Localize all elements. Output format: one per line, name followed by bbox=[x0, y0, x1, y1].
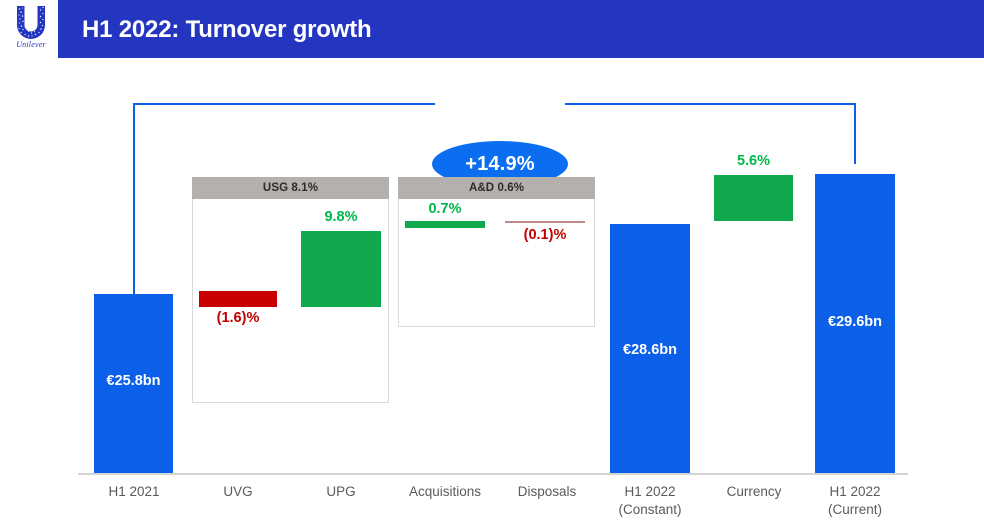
slide-canvas: Unilever H1 2022: Turnover growth +14.9%… bbox=[0, 0, 984, 529]
axis-label-disposals: Disposals bbox=[497, 483, 597, 501]
chart-axis-line bbox=[78, 473, 908, 475]
bar-value-disposals: (0.1)% bbox=[502, 227, 588, 243]
axis-label-h1-2021: H1 2021 bbox=[84, 483, 184, 501]
usg-group-header: USG 8.1% bbox=[192, 177, 389, 199]
page-title: H1 2022: Turnover growth bbox=[82, 14, 782, 46]
bar-acquisitions bbox=[405, 221, 485, 228]
usg-group-label: USG 8.1% bbox=[263, 182, 318, 194]
waterfall-chart: +14.9% USG 8.1% A&D 0.6% €25.8bn (1.6)% … bbox=[0, 58, 984, 529]
bar-value-h1-2022-constant: €28.6bn bbox=[610, 342, 690, 358]
connector-right-horizontal bbox=[565, 103, 856, 105]
connector-left-vertical bbox=[133, 103, 135, 295]
connector-left-horizontal bbox=[133, 103, 435, 105]
bar-value-acquisitions: 0.7% bbox=[405, 201, 485, 217]
connector-right-vertical bbox=[854, 103, 856, 164]
bar-value-h1-2022-current: €29.6bn bbox=[815, 314, 895, 330]
unilever-logo: Unilever bbox=[8, 5, 54, 57]
bar-value-currency: 5.6% bbox=[714, 153, 793, 169]
bar-upg bbox=[301, 231, 381, 307]
bar-currency bbox=[714, 175, 793, 221]
axis-label-h1-2022-constant: H1 2022 (Constant) bbox=[600, 483, 700, 519]
axis-label-uvg: UVG bbox=[188, 483, 288, 501]
and-group-box bbox=[398, 177, 595, 327]
axis-label-acquisitions: Acquisitions bbox=[395, 483, 495, 501]
axis-label-upg: UPG bbox=[291, 483, 391, 501]
unilever-u-icon bbox=[15, 5, 47, 39]
axis-label-currency: Currency bbox=[704, 483, 804, 501]
and-group-label: A&D 0.6% bbox=[469, 182, 524, 194]
axis-label-h1-2022-current: H1 2022 (Current) bbox=[805, 483, 905, 519]
bar-value-h1-2021: €25.8bn bbox=[94, 373, 173, 389]
bar-value-upg: 9.8% bbox=[301, 209, 381, 225]
bar-disposals bbox=[505, 221, 585, 223]
unilever-wordmark: Unilever bbox=[8, 40, 54, 49]
and-group-header: A&D 0.6% bbox=[398, 177, 595, 199]
bar-value-uvg: (1.6)% bbox=[195, 310, 281, 326]
bar-uvg bbox=[199, 291, 277, 307]
